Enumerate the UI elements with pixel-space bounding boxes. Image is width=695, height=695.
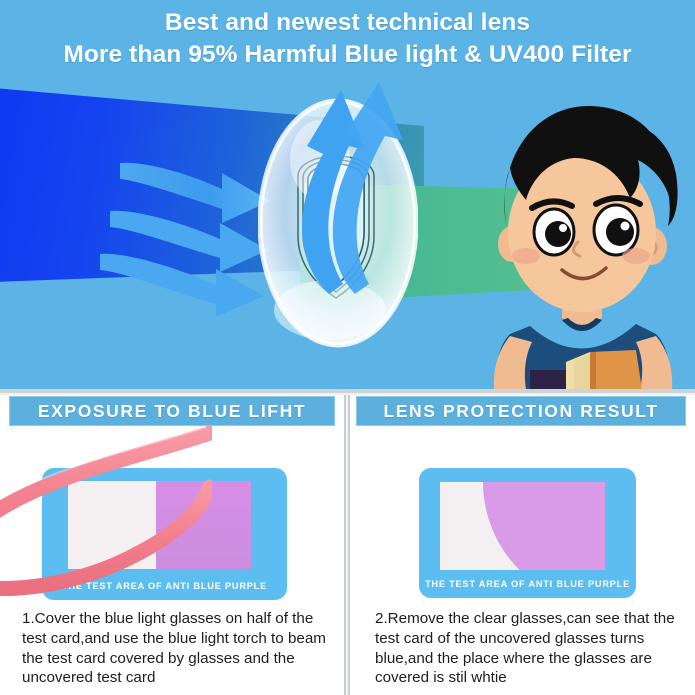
panel-protection-header-text: LENS PROTECTION RESULT	[383, 401, 658, 422]
hero-title: Best and newest technical lens More than…	[0, 8, 695, 70]
test-card-caption: THE TEST AREA OF ANTI BLUE PURPLE	[419, 579, 636, 589]
purple-reaction-region	[483, 482, 605, 570]
product-infographic: Best and newest technical lens More than…	[0, 0, 695, 695]
test-card-result: THE TEST AREA OF ANTI BLUE PURPLE	[419, 468, 636, 598]
panel-protection-description: 2.Remove the clear glasses,can see that …	[375, 609, 685, 688]
hero-section: Best and newest technical lens More than…	[0, 0, 695, 389]
panel-divider-highlight	[346, 395, 348, 695]
panel-protection-header: LENS PROTECTION RESULT	[356, 396, 686, 426]
panel-protection-result: LENS PROTECTION RESULT THE TEST AREA OF …	[350, 395, 695, 695]
hero-title-line-2: More than 95% Harmful Blue light & UV400…	[0, 40, 695, 70]
cartoon-boy-illustration	[470, 80, 695, 389]
hero-title-line-1: Best and newest technical lens	[0, 8, 695, 38]
deflected-arrow-icon-2	[315, 80, 410, 300]
pink-glasses-frame	[0, 413, 212, 613]
panel-exposure-description: 1.Cover the blue light glasses on half o…	[22, 609, 334, 688]
test-area-result	[440, 482, 605, 570]
panel-exposure: EXPOSURE TO BLUE LIFHT THE TEST AREA OF …	[0, 395, 344, 695]
